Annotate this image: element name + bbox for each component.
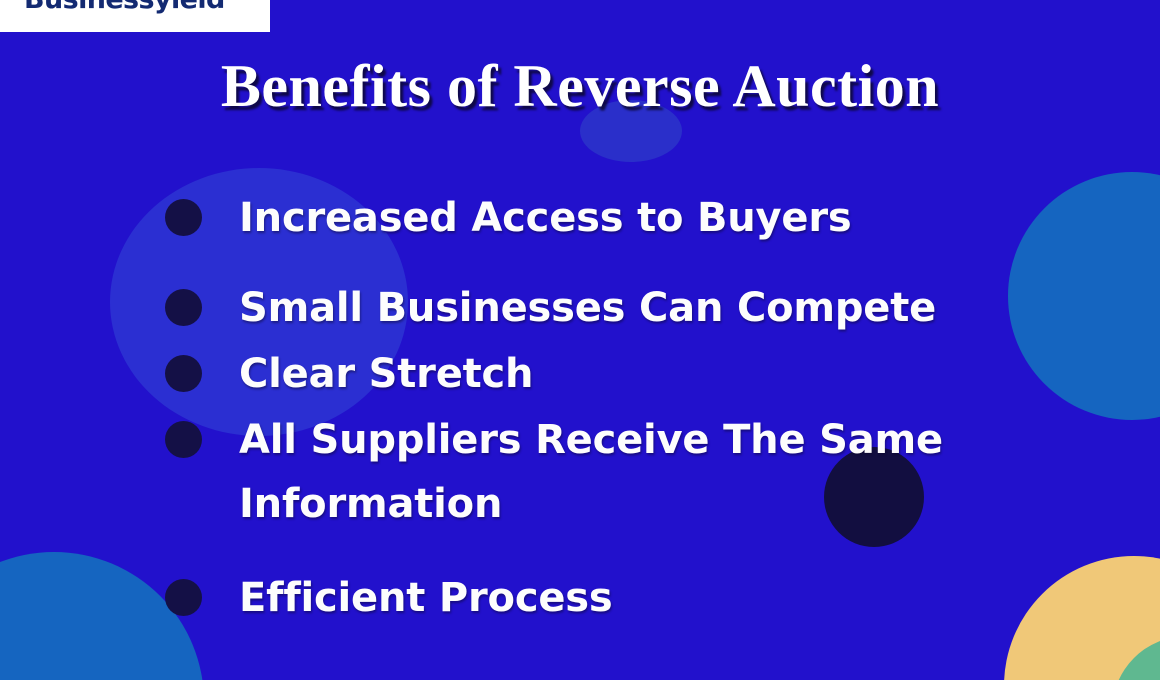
list-item-label: All Suppliers Receive The Same Informati…: [239, 408, 1010, 536]
list-item: All Suppliers Receive The Same Informati…: [0, 408, 1010, 536]
list-item-label: Small Businesses Can Compete: [239, 276, 1010, 340]
logo-wordmark: Businessyield: [24, 0, 225, 15]
bullet-dot-icon: [165, 199, 202, 236]
bullet-dot-icon: [165, 421, 202, 458]
logo-banner: Businessyield: [0, 0, 270, 32]
benefits-list: Increased Access to Buyers Small Busines…: [0, 186, 1010, 646]
bullet-dot-icon: [165, 289, 202, 326]
bullet-dot-icon: [165, 579, 202, 616]
page-title: Benefits of Reverse Auction: [0, 52, 1160, 120]
decor-bottom-right-green-circle: [1112, 636, 1160, 680]
list-item-label: Clear Stretch: [239, 342, 1010, 406]
list-item-label: Efficient Process: [239, 566, 1010, 630]
poster-canvas: Businessyield Benefits of Reverse Auctio…: [0, 0, 1160, 680]
list-item: Efficient Process: [0, 566, 1010, 630]
decor-right-blue-circle: [1008, 172, 1160, 420]
decor-bottom-right-sand-circle: [1004, 556, 1160, 680]
list-item: Increased Access to Buyers: [0, 186, 1010, 250]
list-item: Clear Stretch: [0, 342, 1010, 406]
list-item-label: Increased Access to Buyers: [239, 186, 1010, 250]
bullet-dot-icon: [165, 355, 202, 392]
list-item: Small Businesses Can Compete: [0, 276, 1010, 340]
